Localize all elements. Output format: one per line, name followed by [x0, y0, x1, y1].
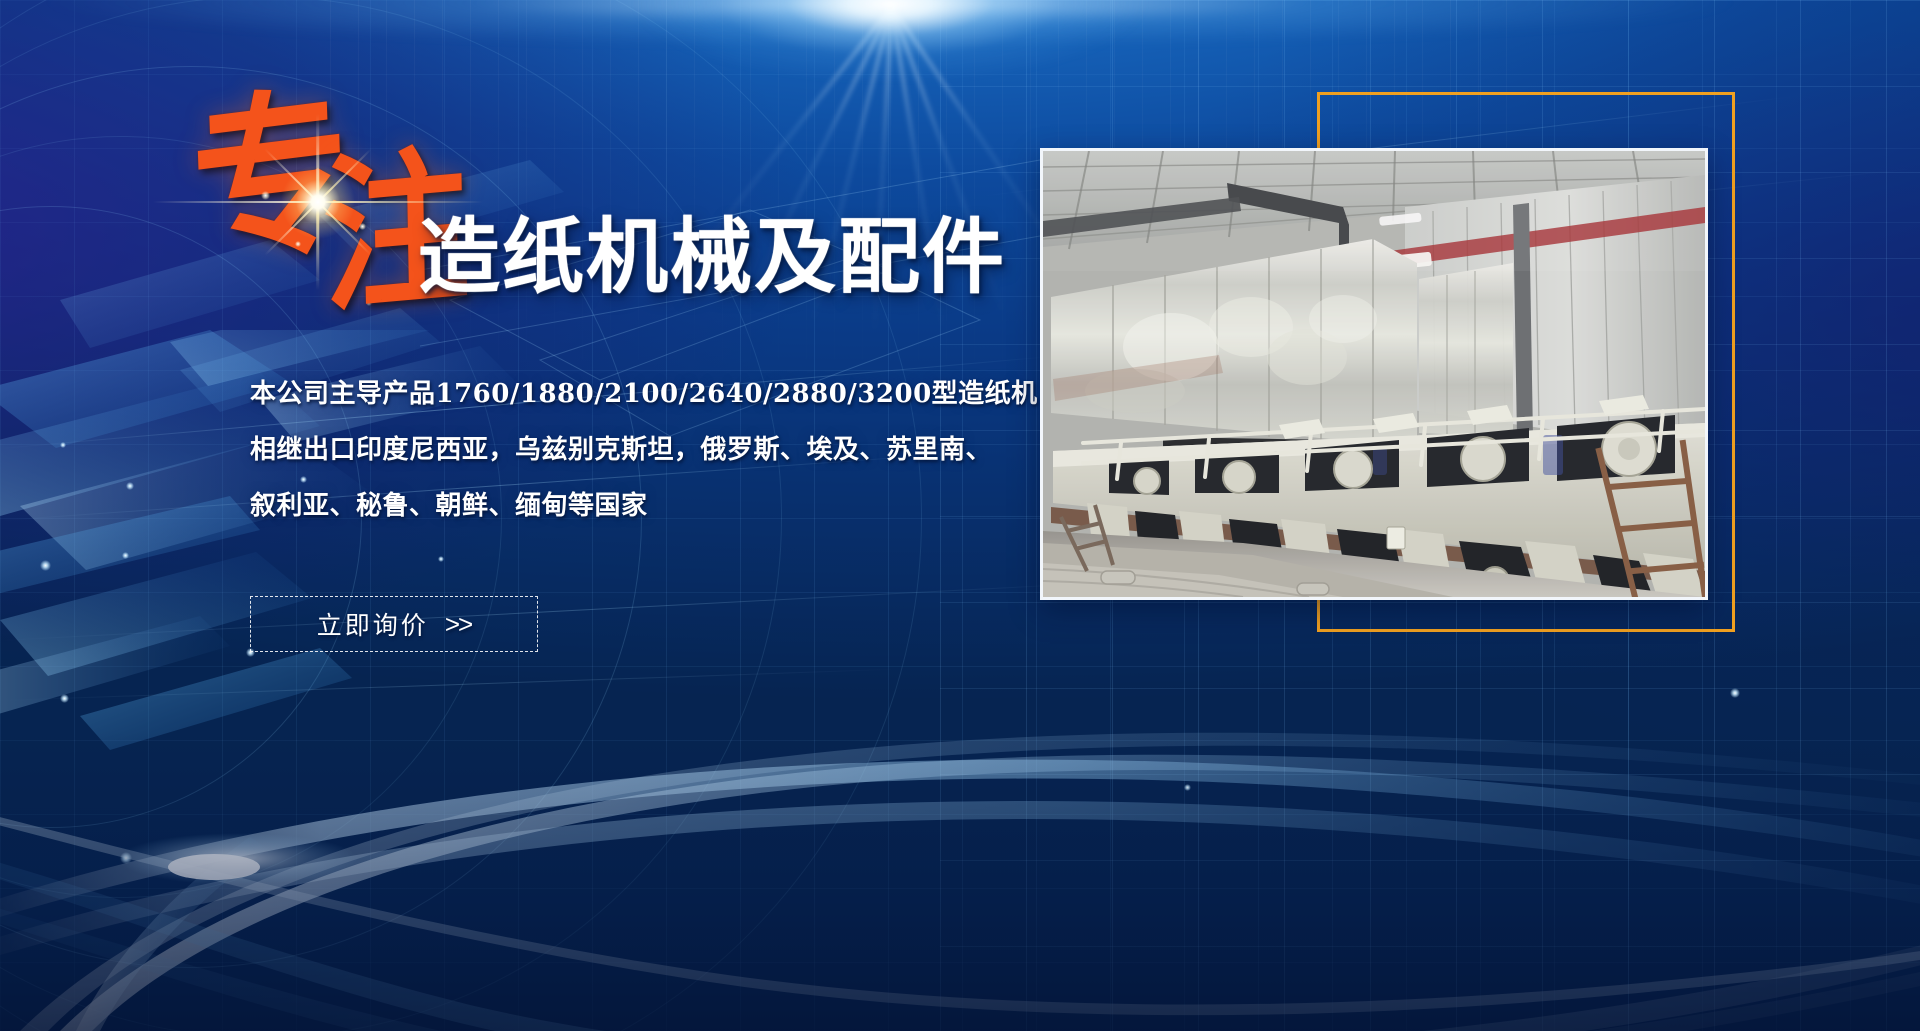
banner-copy-block: 专 注 造纸机械及配件 本公司主导产品1760/1880/2100/2640/2… — [0, 0, 1050, 1031]
description-paragraph: 本公司主导产品1760/1880/2100/2640/2880/3200型造纸机… — [250, 366, 1010, 534]
product-photo-image — [1043, 151, 1705, 597]
description-line: 本公司主导产品1760/1880/2100/2640/2880/3200型造纸机 — [250, 366, 1010, 422]
brand-word-zhuanzhu: 专 注 — [196, 104, 426, 304]
description-line: 相继出口印度尼西亚，乌兹别克斯坦，俄罗斯、埃及、苏里南、 — [250, 422, 1010, 478]
inquiry-button[interactable]: 立即询价 >> — [250, 596, 538, 652]
page-title: 造纸机械及配件 — [418, 190, 1006, 309]
description-line: 叙利亚、秘鲁、朝鲜、缅甸等国家 — [250, 478, 1010, 534]
product-photo[interactable] — [1040, 148, 1708, 600]
inquiry-button-label: 立即询价 — [317, 606, 429, 642]
hero-banner: 专 注 造纸机械及配件 本公司主导产品1760/1880/2100/2640/2… — [0, 0, 1920, 1031]
inquiry-button-content: 立即询价 >> — [317, 606, 471, 642]
double-chevron-right-icon: >> — [445, 609, 471, 640]
